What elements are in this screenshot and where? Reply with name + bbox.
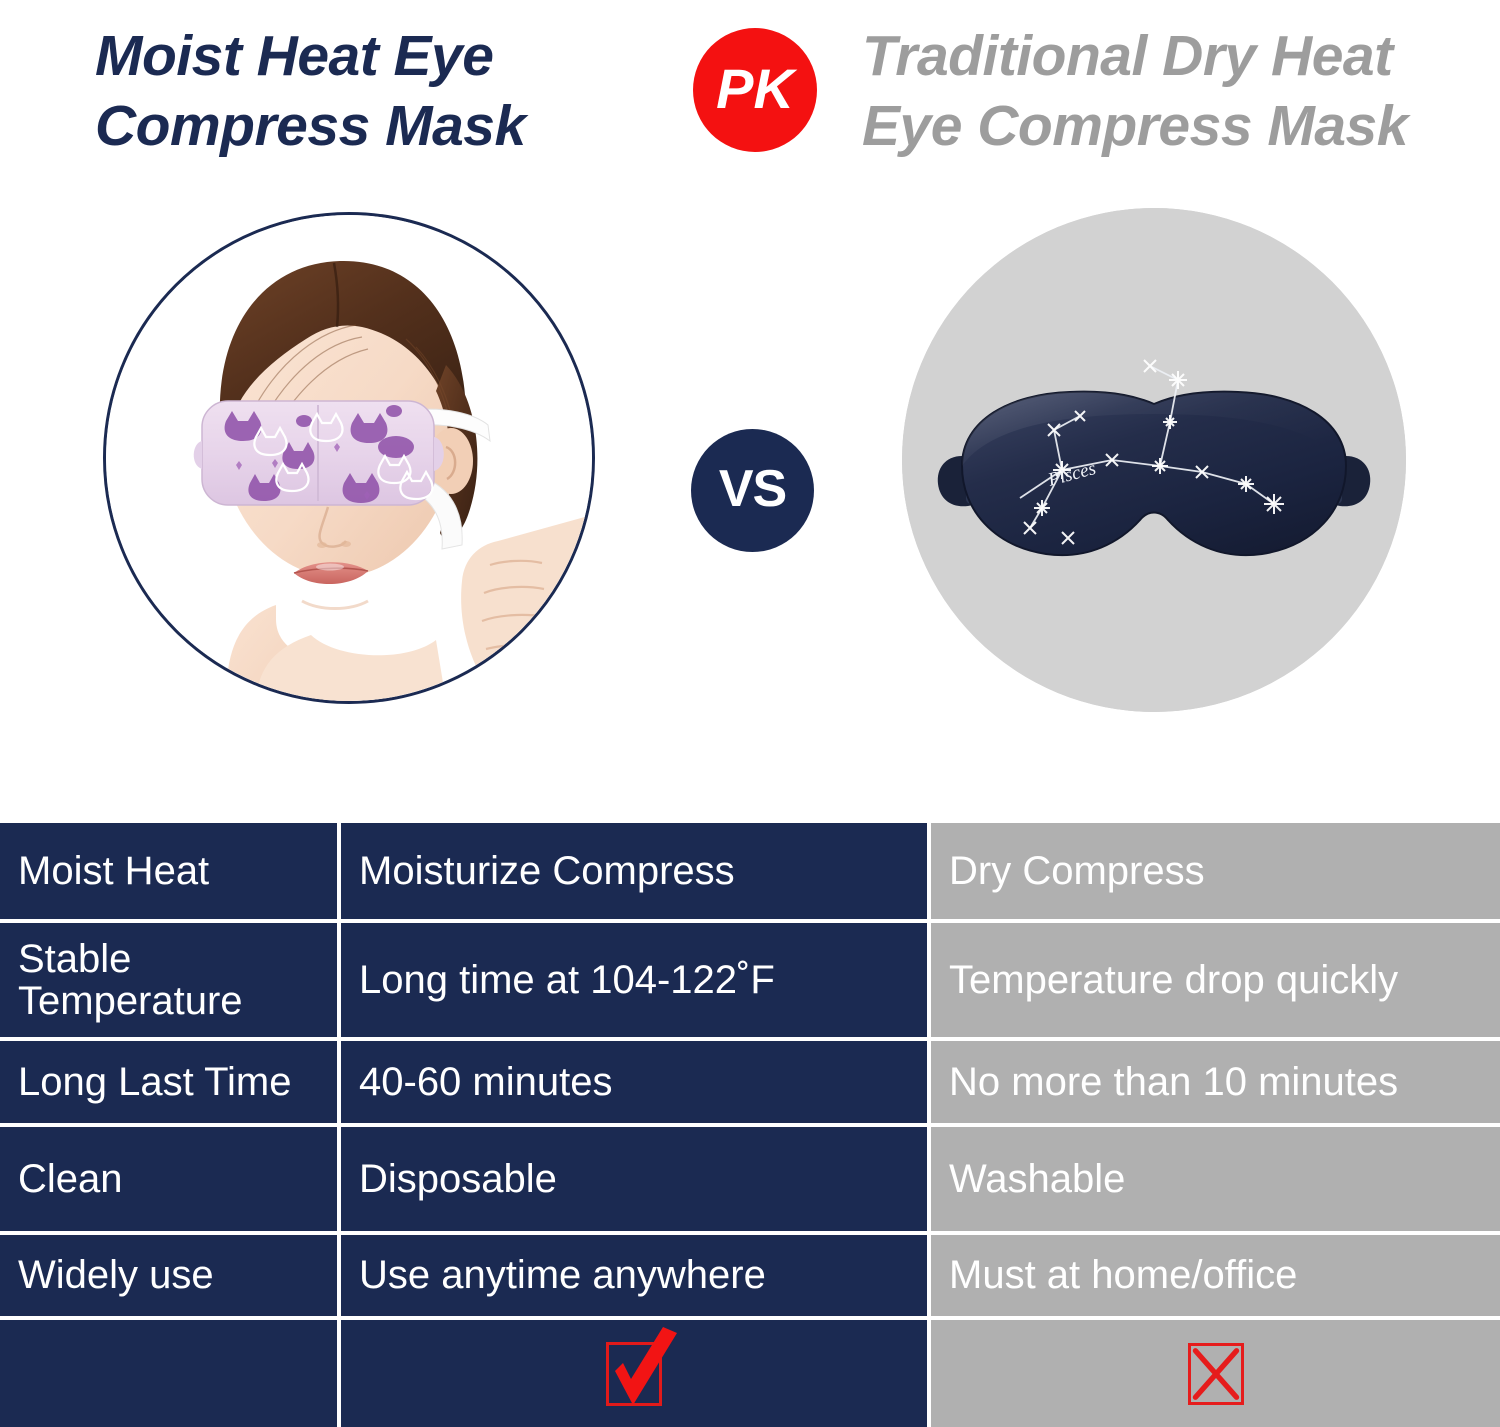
- dry-heat-cell: Washable: [931, 1127, 1500, 1231]
- table-row: Clean Disposable Washable: [0, 1127, 1500, 1231]
- moist-heat-cell: Long time at 104-122˚F: [341, 923, 927, 1037]
- left-product-title: Moist Heat Eye Compress Mask: [95, 22, 675, 161]
- feature-label: Stable Temperature: [18, 938, 243, 1023]
- dry-heat-verdict-cell: [931, 1320, 1500, 1427]
- moist-heat-mask-illustration: [106, 215, 592, 701]
- vs-badge-label: VS: [719, 463, 786, 515]
- dry-heat-value: No more than 10 minutes: [949, 1061, 1398, 1103]
- feature-cell: Widely use: [0, 1235, 337, 1316]
- moist-heat-value: 40-60 minutes: [359, 1061, 612, 1103]
- check-icon: [606, 1342, 662, 1406]
- moist-heat-value: Moisturize Compress: [359, 850, 735, 892]
- check-icon-glyph: [595, 1325, 687, 1417]
- cross-icon-glyph: [1191, 1343, 1241, 1405]
- dry-heat-value: Washable: [949, 1158, 1125, 1200]
- pk-badge: PK: [693, 28, 817, 152]
- right-product-photo: Pisces: [902, 208, 1406, 712]
- dry-heat-value: Must at home/office: [949, 1254, 1297, 1296]
- feature-cell: Stable Temperature: [0, 923, 337, 1037]
- moist-heat-cell: Use anytime anywhere: [341, 1235, 927, 1316]
- moist-heat-value: Long time at 104-122˚F: [359, 959, 775, 1001]
- silk-sleep-mask-illustration: Pisces: [902, 208, 1406, 712]
- feature-label: Clean: [18, 1158, 123, 1200]
- dry-heat-cell: Dry Compress: [931, 823, 1500, 919]
- table-row: Stable Temperature Long time at 104-122˚…: [0, 923, 1500, 1037]
- moist-heat-cell: 40-60 minutes: [341, 1041, 927, 1123]
- moist-heat-value: Use anytime anywhere: [359, 1254, 766, 1296]
- vs-badge: VS: [691, 429, 814, 552]
- feature-cell-empty: [0, 1320, 337, 1427]
- moist-heat-verdict-cell: [341, 1320, 927, 1427]
- feature-cell: Moist Heat: [0, 823, 337, 919]
- table-row: Widely use Use anytime anywhere Must at …: [0, 1235, 1500, 1316]
- comparison-table: Moist Heat Moisturize Compress Dry Compr…: [0, 823, 1500, 1427]
- feature-label: Widely use: [18, 1254, 214, 1296]
- table-row: Moist Heat Moisturize Compress Dry Compr…: [0, 823, 1500, 919]
- cross-icon: [1188, 1343, 1244, 1405]
- pk-badge-label: PK: [716, 61, 794, 117]
- table-row-verdict: [0, 1320, 1500, 1427]
- table-row: Long Last Time 40-60 minutes No more tha…: [0, 1041, 1500, 1123]
- product-showcase: VS: [0, 196, 1500, 821]
- header-banner: Moist Heat Eye Compress Mask PK Traditio…: [0, 0, 1500, 200]
- right-product-title: Traditional Dry Heat Eye Compress Mask: [862, 22, 1482, 161]
- dry-heat-cell: Must at home/office: [931, 1235, 1500, 1316]
- moist-heat-cell: Moisturize Compress: [341, 823, 927, 919]
- dry-heat-cell: No more than 10 minutes: [931, 1041, 1500, 1123]
- feature-cell: Clean: [0, 1127, 337, 1231]
- dry-heat-cell: Temperature drop quickly: [931, 923, 1500, 1037]
- moist-heat-value: Disposable: [359, 1158, 557, 1200]
- moist-heat-cell: Disposable: [341, 1127, 927, 1231]
- feature-label: Moist Heat: [18, 850, 209, 892]
- feature-cell: Long Last Time: [0, 1041, 337, 1123]
- dry-heat-value: Temperature drop quickly: [949, 959, 1398, 1001]
- left-product-photo: [103, 212, 595, 704]
- dry-heat-value: Dry Compress: [949, 850, 1205, 892]
- feature-label: Long Last Time: [18, 1061, 292, 1103]
